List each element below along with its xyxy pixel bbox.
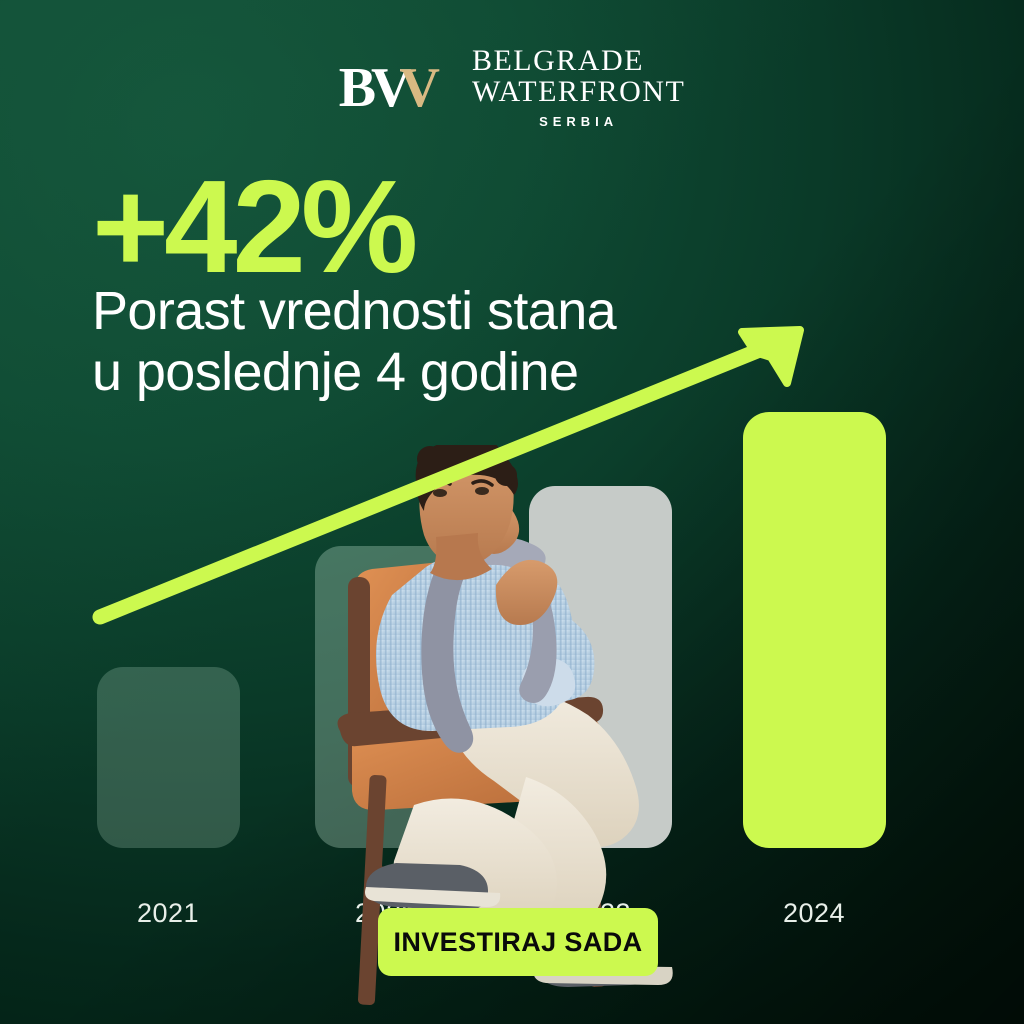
logo-waterfront: WATERFRONT <box>472 77 685 108</box>
headline-line-2: u poslednje 4 godine <box>92 342 792 402</box>
logo-letter-b: B <box>339 60 374 116</box>
logo-serbia: SERBIA <box>539 114 618 129</box>
headline-block: +42% Porast vrednosti stana u poslednje … <box>92 166 792 402</box>
logo-letter-w-gold: V <box>400 60 438 116</box>
invest-now-button[interactable]: INVESTIRAJ SADA <box>378 908 658 976</box>
stat-percentage: +42% <box>92 166 792 287</box>
logo-monogram: B V V <box>339 60 438 116</box>
logo-wordmark: BELGRADE WATERFRONT SERBIA <box>472 46 685 129</box>
logo-belgrade: BELGRADE <box>472 46 644 77</box>
logo-divider <box>454 60 456 116</box>
headline-line-1: Porast vrednosti stana <box>92 281 792 341</box>
advertisement-creative: 2021 2022 2023 2024 <box>0 0 1024 1024</box>
brand-logo: B V V BELGRADE WATERFRONT SERBIA <box>0 46 1024 129</box>
